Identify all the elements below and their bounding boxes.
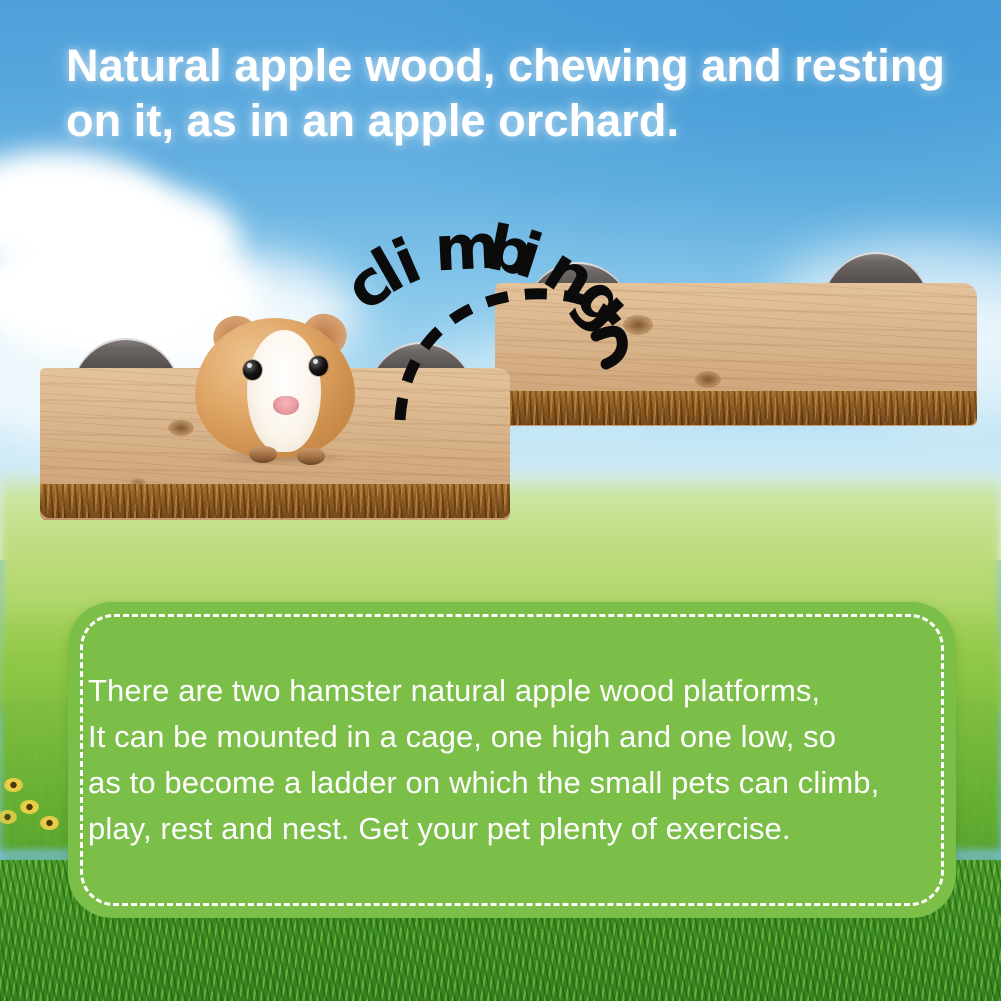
hamster-eye-right [309,356,328,376]
description-text: There are two hamster natural apple wood… [88,668,918,852]
dashed-curved-arrow-icon [370,250,630,430]
hamster-eye-left [243,360,262,380]
wood-knot [168,420,194,436]
flower-icon [0,810,17,824]
flower-icon [20,800,39,814]
hamster-paw-right [297,448,325,465]
wood-knot [695,371,721,388]
flower-icon [40,816,59,830]
hamster-face-blaze [247,330,321,452]
product-marketing-image: Natural apple wood, chewing and resting … [0,0,1001,1001]
flower-icon [4,778,23,792]
hamster-nose [273,396,299,415]
low-platform-bark-edge [40,484,510,518]
hamster-paw-left [249,446,277,463]
headline-text: Natural apple wood, chewing and resting … [66,38,966,148]
